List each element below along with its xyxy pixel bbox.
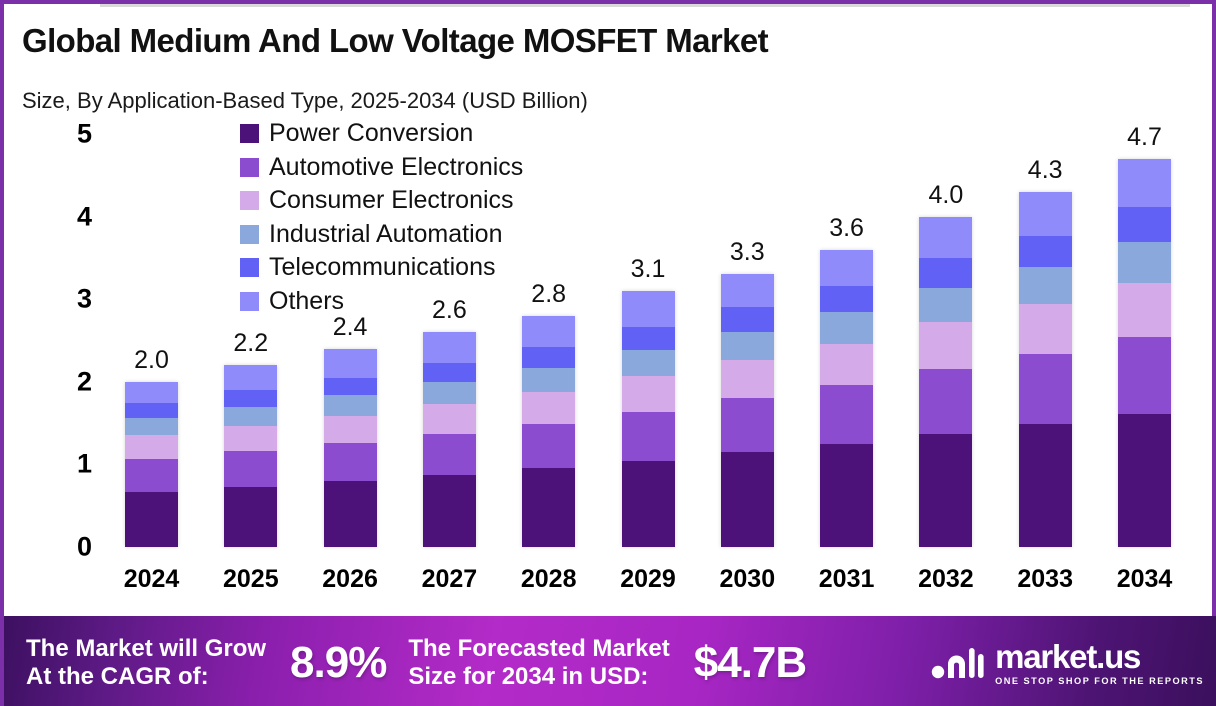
bar-segment[interactable] — [622, 461, 675, 547]
market-us-logo-icon — [930, 646, 986, 680]
bar-segment[interactable] — [1118, 283, 1171, 338]
bar-segment[interactable] — [423, 363, 476, 382]
legend-swatch-icon — [240, 191, 259, 210]
bar-segment[interactable] — [423, 434, 476, 475]
bar-segment[interactable] — [721, 360, 774, 398]
stacked-bar[interactable] — [125, 382, 178, 547]
bar-value-label: 3.1 — [598, 255, 698, 284]
bar-value-label: 3.6 — [797, 214, 897, 243]
bar-segment[interactable] — [622, 327, 675, 349]
x-axis-tick: 2031 — [797, 565, 897, 594]
forecast-value: $4.7B — [694, 638, 806, 688]
x-axis-tick: 2034 — [1095, 565, 1195, 594]
bar-segment[interactable] — [224, 426, 277, 452]
bar-segment[interactable] — [324, 416, 377, 443]
bar-segment[interactable] — [522, 316, 575, 347]
bar-value-label: 4.3 — [995, 156, 1095, 185]
stacked-bar[interactable] — [1019, 192, 1072, 547]
y-axis-tick: 4 — [48, 201, 92, 232]
bar-segment[interactable] — [622, 291, 675, 327]
bar-segment[interactable] — [622, 412, 675, 462]
x-axis-tick: 2024 — [102, 565, 202, 594]
stacked-bar[interactable] — [820, 250, 873, 547]
legend-item[interactable]: Consumer Electronics — [240, 184, 523, 218]
stacked-bar[interactable] — [721, 274, 774, 547]
bar-segment[interactable] — [721, 452, 774, 547]
bar-segment[interactable] — [324, 395, 377, 416]
bar-segment[interactable] — [522, 392, 575, 424]
stacked-bar[interactable] — [224, 365, 277, 547]
footer-banner: The Market will GrowAt the CAGR of: 8.9%… — [4, 616, 1216, 706]
bar-segment[interactable] — [1019, 236, 1072, 267]
logo-name: market.us — [995, 640, 1204, 673]
legend-item[interactable]: Telecommunications — [240, 251, 523, 285]
bar-segment[interactable] — [1019, 304, 1072, 354]
bar-segment[interactable] — [522, 468, 575, 546]
x-axis-tick: 2032 — [896, 565, 996, 594]
legend-item[interactable]: Power Conversion — [240, 117, 523, 151]
bar-segment[interactable] — [721, 307, 774, 332]
bar-segment[interactable] — [820, 344, 873, 385]
bar-segment[interactable] — [224, 451, 277, 487]
bar-segment[interactable] — [919, 288, 972, 323]
bar-segment[interactable] — [919, 217, 972, 258]
bar-segment[interactable] — [125, 492, 178, 547]
bar-segment[interactable] — [820, 286, 873, 312]
bar-segment[interactable] — [1118, 159, 1171, 208]
market-us-logo[interactable]: market.us ONE STOP SHOP FOR THE REPORTS — [930, 640, 1204, 686]
bar-segment[interactable] — [721, 332, 774, 360]
cagr-value: 8.9% — [290, 638, 386, 688]
bar-segment[interactable] — [522, 347, 575, 368]
bar-segment[interactable] — [820, 385, 873, 444]
chart-legend: Power ConversionAutomotive ElectronicsCo… — [240, 117, 523, 318]
bar-segment[interactable] — [522, 368, 575, 392]
bar-segment[interactable] — [919, 322, 972, 368]
stacked-bar[interactable] — [423, 332, 476, 547]
y-axis-tick: 1 — [48, 449, 92, 480]
bar-segment[interactable] — [721, 274, 774, 307]
bar-segment[interactable] — [1019, 424, 1072, 547]
legend-label: Industrial Automation — [269, 222, 502, 247]
bar-segment[interactable] — [423, 332, 476, 363]
legend-swatch-icon — [240, 258, 259, 277]
legend-item[interactable]: Industrial Automation — [240, 218, 523, 252]
bar-value-label: 4.0 — [896, 181, 996, 210]
legend-label: Telecommunications — [269, 255, 496, 280]
legend-label: Consumer Electronics — [269, 188, 514, 213]
x-axis-tick: 2026 — [300, 565, 400, 594]
stacked-bar[interactable] — [1118, 159, 1171, 547]
bar-segment[interactable] — [324, 349, 377, 378]
stacked-bar[interactable] — [522, 316, 575, 547]
y-axis-tick: 0 — [48, 532, 92, 563]
logo-text: market.us ONE STOP SHOP FOR THE REPORTS — [995, 640, 1204, 686]
bar-segment[interactable] — [1019, 354, 1072, 424]
bar-segment[interactable] — [423, 382, 476, 404]
y-axis-tick: 3 — [48, 284, 92, 315]
infographic-frame: Global Medium And Low Voltage MOSFET Mar… — [0, 0, 1216, 706]
bar-segment[interactable] — [423, 404, 476, 434]
bar-segment[interactable] — [1118, 242, 1171, 282]
bar-segment[interactable] — [1118, 337, 1171, 414]
x-axis-line — [100, 4, 1190, 7]
bar-segment[interactable] — [125, 435, 178, 458]
forecast-label: The Forecasted MarketSize for 2034 in US… — [408, 635, 669, 691]
legend-swatch-icon — [240, 124, 259, 143]
bar-segment[interactable] — [1118, 207, 1171, 242]
x-axis-tick: 2029 — [598, 565, 698, 594]
legend-swatch-icon — [240, 158, 259, 177]
bar-segment[interactable] — [224, 407, 277, 426]
bar-segment[interactable] — [423, 475, 476, 547]
bar-segment[interactable] — [1118, 414, 1171, 547]
y-axis-tick: 2 — [48, 366, 92, 397]
bar-segment[interactable] — [622, 350, 675, 376]
bar-segment[interactable] — [324, 481, 377, 547]
bar-segment[interactable] — [721, 398, 774, 452]
bar-segment[interactable] — [919, 258, 972, 288]
legend-item[interactable]: Others — [240, 285, 523, 319]
legend-label: Others — [269, 289, 344, 314]
bar-segment[interactable] — [125, 382, 178, 403]
logo-tagline: ONE STOP SHOP FOR THE REPORTS — [995, 676, 1204, 686]
legend-item[interactable]: Automotive Electronics — [240, 151, 523, 185]
x-axis-tick: 2025 — [201, 565, 301, 594]
bar-segment[interactable] — [820, 444, 873, 547]
legend-swatch-icon — [240, 225, 259, 244]
legend-label: Automotive Electronics — [269, 155, 523, 180]
bar-segment[interactable] — [522, 424, 575, 469]
legend-swatch-icon — [240, 292, 259, 311]
bar-segment[interactable] — [125, 418, 178, 435]
chart-plot-area: 012345 2.02.22.42.62.83.13.33.64.04.34.7… — [4, 4, 1216, 604]
bar-segment[interactable] — [224, 390, 277, 407]
bar-segment[interactable] — [224, 365, 277, 390]
bar-segment[interactable] — [820, 250, 873, 286]
bar-value-label: 4.7 — [1095, 123, 1195, 152]
bar-segment[interactable] — [919, 369, 972, 434]
x-axis-tick: 2027 — [399, 565, 499, 594]
legend-label: Power Conversion — [269, 121, 473, 146]
x-axis-tick: 2028 — [499, 565, 599, 594]
bar-value-label: 2.0 — [102, 346, 202, 375]
bar-segment[interactable] — [1019, 267, 1072, 304]
bar-value-label: 3.3 — [697, 238, 797, 267]
bar-segment[interactable] — [622, 376, 675, 412]
stacked-bar[interactable] — [622, 291, 675, 547]
bar-segment[interactable] — [324, 378, 377, 395]
x-axis-tick: 2030 — [697, 565, 797, 594]
bar-value-label: 2.2 — [201, 329, 301, 358]
bar-segment[interactable] — [125, 459, 178, 492]
bar-segment[interactable] — [125, 403, 178, 418]
cagr-label: The Market will GrowAt the CAGR of: — [26, 635, 266, 691]
bar-segment[interactable] — [324, 443, 377, 481]
bar-segment[interactable] — [919, 434, 972, 547]
bar-segment[interactable] — [820, 312, 873, 343]
stacked-bar[interactable] — [919, 217, 972, 547]
bar-segment[interactable] — [224, 487, 277, 547]
x-axis-tick: 2033 — [995, 565, 1095, 594]
stacked-bar[interactable] — [324, 349, 377, 547]
y-axis-tick: 5 — [48, 119, 92, 150]
bar-segment[interactable] — [1019, 192, 1072, 236]
